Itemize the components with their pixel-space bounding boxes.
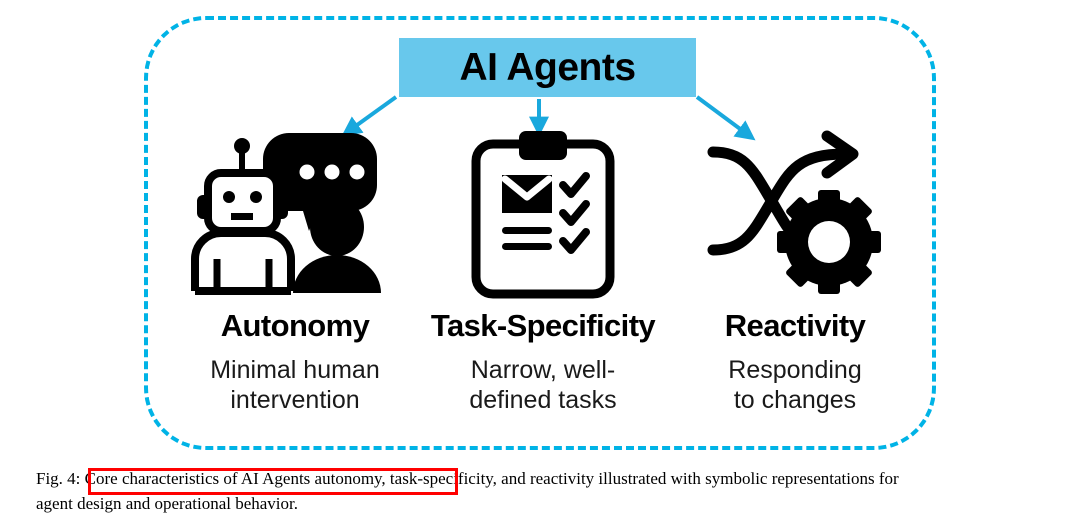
desc-line-1: Responding bbox=[728, 356, 861, 384]
robot-speech-person-icon bbox=[172, 124, 418, 304]
desc-line-2: defined tasks bbox=[420, 385, 666, 416]
column-description: Minimal human intervention bbox=[172, 355, 418, 416]
characteristic-column-task-specificity: Task-Specificity Narrow, well- defined t… bbox=[420, 124, 666, 416]
characteristic-column-reactivity: Reactivity Responding to changes bbox=[672, 124, 918, 416]
desc-line-1: Narrow, well- bbox=[471, 356, 615, 384]
column-description: Narrow, well- defined tasks bbox=[420, 355, 666, 416]
clipboard-checklist-icon bbox=[420, 124, 666, 304]
column-heading: Reactivity bbox=[672, 310, 918, 343]
characteristic-column-autonomy: Autonomy Minimal human intervention bbox=[172, 124, 418, 416]
banner-title: AI Agents bbox=[459, 48, 635, 87]
desc-line-2: to changes bbox=[672, 385, 918, 416]
figure-caption: Fig. 4: Core characteristics of AI Agent… bbox=[36, 466, 1051, 516]
caption-line-1: Fig. 4: Core characteristics of AI Agent… bbox=[36, 466, 1051, 491]
caption-line-2: agent design and operational behavior. bbox=[36, 491, 1051, 516]
desc-line-2: intervention bbox=[172, 385, 418, 416]
crossing-arrows-gear-icon bbox=[672, 124, 918, 304]
figure-panel: AI Agents bbox=[0, 0, 1080, 460]
ai-agents-banner: AI Agents bbox=[399, 38, 696, 97]
column-heading: Autonomy bbox=[172, 310, 418, 343]
column-heading: Task-Specificity bbox=[420, 310, 666, 343]
column-description: Responding to changes bbox=[672, 355, 918, 416]
desc-line-1: Minimal human bbox=[210, 356, 380, 384]
